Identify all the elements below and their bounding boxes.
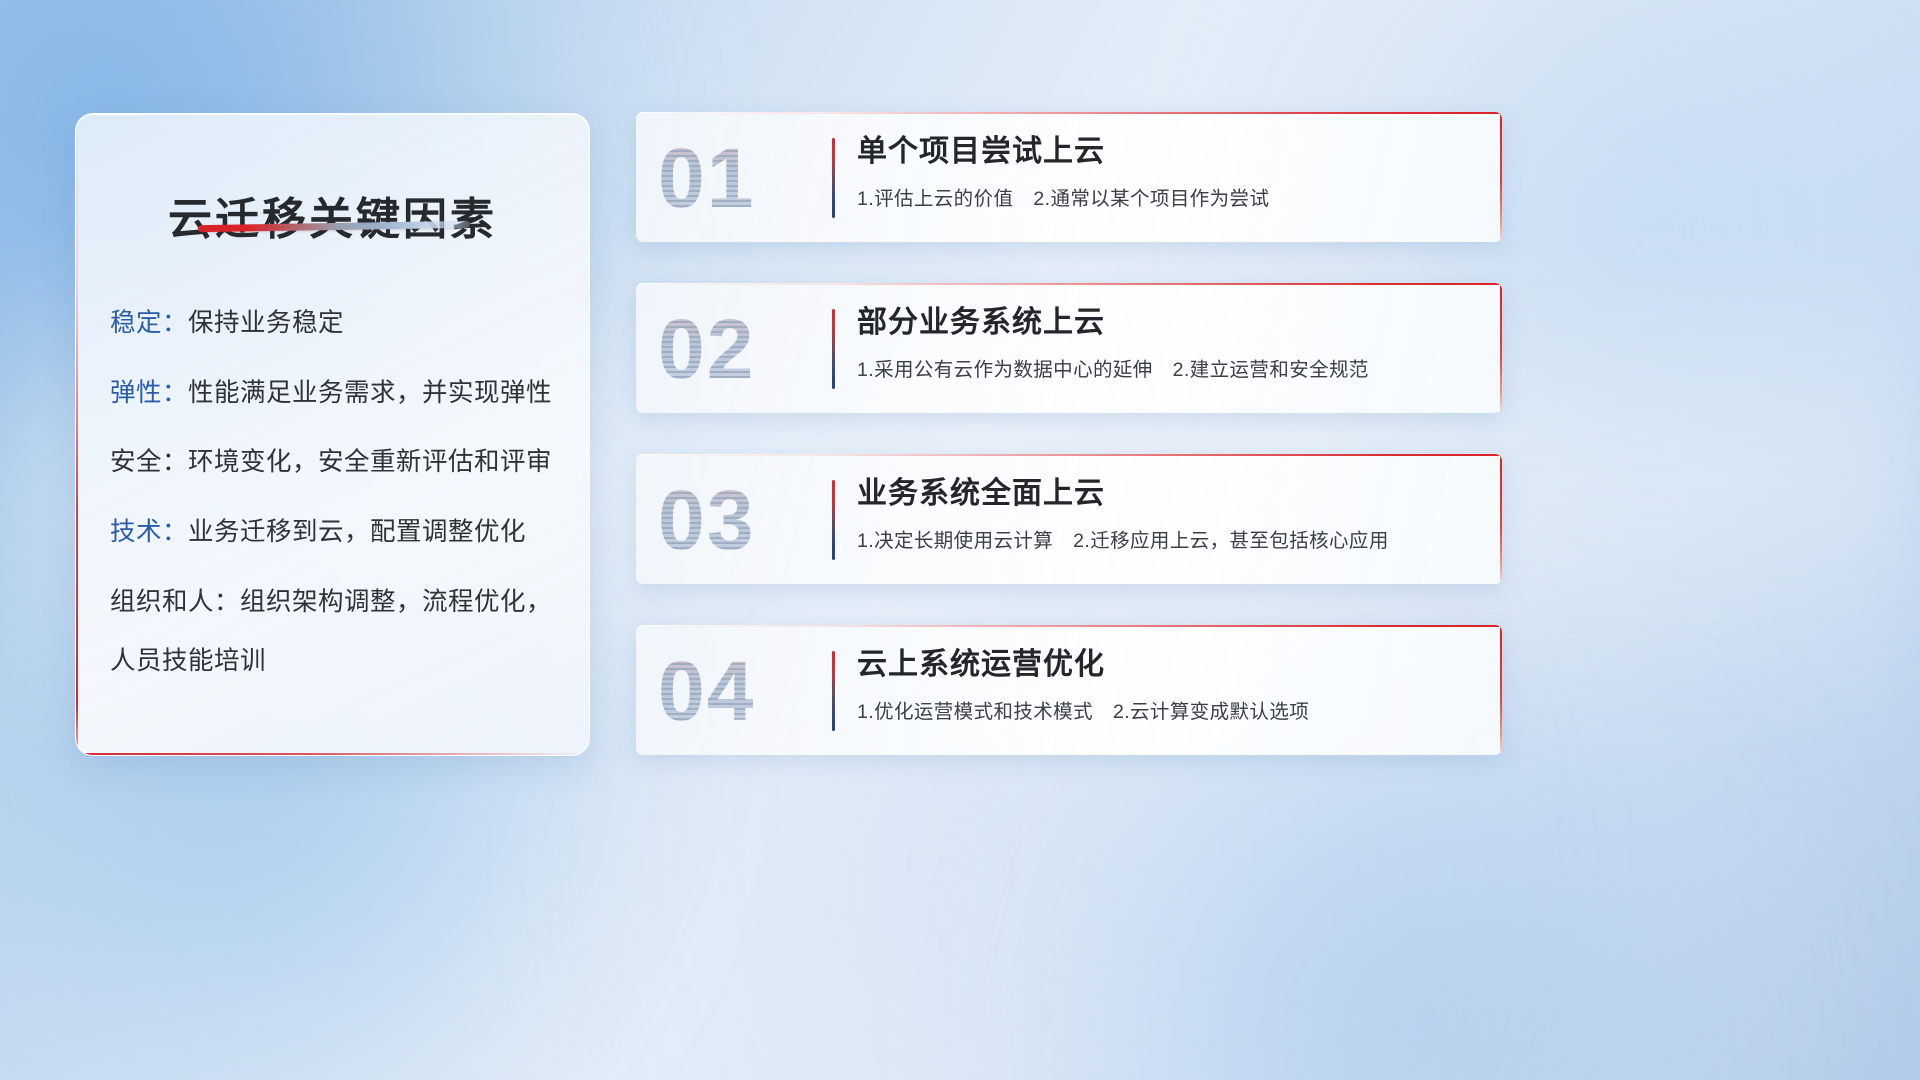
card-step-number: 03 [658,472,830,568]
card-description-item: 2.迁移应用上云，甚至包括核心应用 [1073,530,1389,552]
card-divider-bar [832,138,835,218]
card-step-number-text: 04 [658,643,830,739]
key-factor-row: 组织和人：组织架构调整，流程优化， [110,586,565,619]
card-top-accent [636,454,1502,456]
stage-cards: 01单个项目尝试上云1.评估上云的价值2.通常以某个项目作为尝试02部分业务系统… [636,112,1502,796]
card-step-number-text: 02 [658,301,830,397]
key-factor-value-continued: 人员技能培训 [110,640,565,677]
card-top-accent [636,625,1502,627]
key-factor-value: 环境变化，安全重新评估和评审 [188,448,552,476]
key-factor-value: 保持业务稳定 [188,309,344,337]
card-step-number: 01 [658,130,830,226]
card-title: 云上系统运营优化 [857,645,1476,686]
card-text-block: 部分业务系统上云1.采用公有云作为数据中心的延伸2.建立运营和安全规范 [857,303,1476,382]
key-factor-row: 技术：业务迁移到云，配置调整优化 [110,516,565,549]
card-top-accent [636,283,1502,285]
card-step-number-text: 01 [658,130,830,226]
card-text-block: 云上系统运营优化1.优化运营模式和技术模式2.云计算变成默认选项 [857,645,1476,724]
stage-card[interactable]: 03业务系统全面上云1.决定长期使用云计算2.迁移应用上云，甚至包括核心应用 [636,454,1502,584]
key-factor-row: 弹性：性能满足业务需求，并实现弹性 [110,377,565,410]
card-right-accent [1500,454,1502,584]
card-text-block: 业务系统全面上云1.决定长期使用云计算2.迁移应用上云，甚至包括核心应用 [857,474,1476,553]
card-title: 单个项目尝试上云 [857,132,1476,173]
card-text-block: 单个项目尝试上云1.评估上云的价值2.通常以某个项目作为尝试 [857,132,1476,211]
key-factors-panel: 云迁移关键因素 稳定：保持业务稳定弹性：性能满足业务需求，并实现弹性安全：环境变… [75,113,590,756]
card-divider-bar [832,309,835,389]
card-description: 1.优化运营模式和技术模式2.云计算变成默认选项 [857,695,1476,724]
key-factor-label: 弹性： [110,379,188,407]
key-factors-list: 稳定：保持业务稳定弹性：性能满足业务需求，并实现弹性安全：环境变化，安全重新评估… [110,307,565,677]
card-divider-bar [832,480,835,560]
key-factor-value: 组织架构调整，流程优化， [240,588,552,616]
key-factor-value: 业务迁移到云，配置调整优化 [188,518,526,546]
card-description: 1.决定长期使用云计算2.迁移应用上云，甚至包括核心应用 [857,524,1476,553]
card-description-item: 2.云计算变成默认选项 [1113,701,1309,723]
key-factor-label: 技术： [110,518,188,546]
key-factor-label: 稳定： [110,309,188,337]
card-description-item: 1.优化运营模式和技术模式 [857,701,1093,723]
key-factor-row: 安全：环境变化，安全重新评估和评审 [110,446,565,479]
card-top-accent [636,112,1502,114]
key-factor-value: 性能满足业务需求，并实现弹性 [188,379,552,407]
card-description-item: 2.建立运营和安全规范 [1173,359,1369,381]
card-description-item: 1.采用公有云作为数据中心的延伸 [857,359,1153,381]
card-description: 1.评估上云的价值2.通常以某个项目作为尝试 [857,182,1476,211]
card-right-accent [1500,283,1502,413]
stage-card[interactable]: 04云上系统运营优化1.优化运营模式和技术模式2.云计算变成默认选项 [636,625,1502,755]
stage-card[interactable]: 02部分业务系统上云1.采用公有云作为数据中心的延伸2.建立运营和安全规范 [636,283,1502,413]
card-description: 1.采用公有云作为数据中心的延伸2.建立运营和安全规范 [857,353,1476,382]
panel-title: 云迁移关键因素 [76,183,589,247]
card-step-number-text: 03 [658,472,830,568]
key-factor-row: 稳定：保持业务稳定 [110,307,565,340]
card-step-number: 02 [658,301,830,397]
key-factor-label: 安全： [110,448,188,476]
card-title: 业务系统全面上云 [857,474,1476,515]
card-title: 部分业务系统上云 [857,303,1476,344]
card-description-item: 1.决定长期使用云计算 [857,530,1053,552]
card-description-item: 1.评估上云的价值 [857,188,1013,210]
card-description-item: 2.通常以某个项目作为尝试 [1033,188,1269,210]
card-divider-bar [832,651,835,731]
card-right-accent [1500,112,1502,242]
card-step-number: 04 [658,643,830,739]
stage-card[interactable]: 01单个项目尝试上云1.评估上云的价值2.通常以某个项目作为尝试 [636,112,1502,242]
key-factor-label: 组织和人： [110,588,240,616]
card-right-accent [1500,625,1502,755]
